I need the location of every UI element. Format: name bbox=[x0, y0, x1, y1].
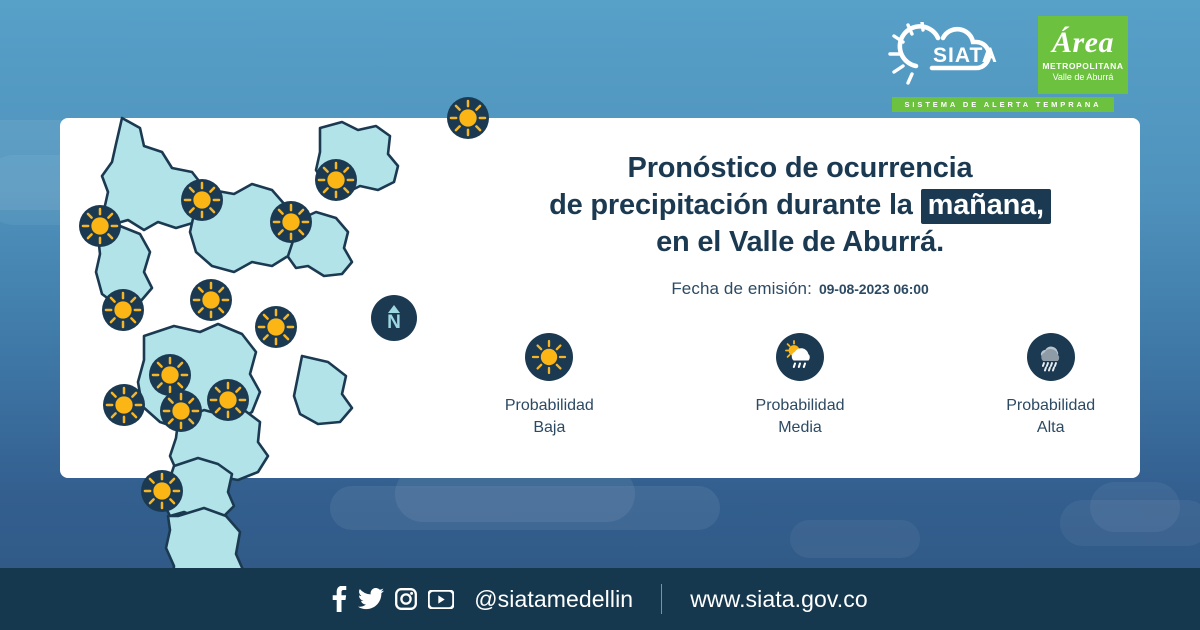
sun-icon bbox=[160, 390, 202, 432]
sun-icon bbox=[79, 205, 121, 247]
title-line-1: Pronóstico de ocurrencia bbox=[480, 150, 1120, 187]
sun-icon bbox=[315, 159, 357, 201]
compass-label: N bbox=[387, 314, 401, 331]
siata-logo: SIATA bbox=[886, 22, 1026, 86]
background-cloud bbox=[790, 520, 920, 558]
map-marker[interactable] bbox=[270, 201, 312, 243]
map-marker[interactable] bbox=[447, 97, 489, 139]
map-marker[interactable] bbox=[207, 379, 249, 421]
title-line-2-text: de precipitación durante la bbox=[549, 189, 913, 221]
sun-icon bbox=[525, 333, 573, 381]
sun-icon bbox=[181, 179, 223, 221]
website-url[interactable]: www.siata.gov.co bbox=[690, 586, 868, 613]
sun-cloud-rain-icon bbox=[776, 333, 824, 381]
map-marker[interactable] bbox=[79, 205, 121, 247]
youtube-icon[interactable] bbox=[428, 590, 454, 609]
map-marker[interactable] bbox=[102, 289, 144, 331]
footer-divider bbox=[661, 584, 662, 614]
tagline-banner: SISTEMA DE ALERTA TEMPRANA bbox=[892, 97, 1114, 112]
map-marker[interactable] bbox=[141, 470, 183, 512]
sun-icon bbox=[255, 306, 297, 348]
map-marker[interactable] bbox=[103, 384, 145, 426]
period-highlight: mañana, bbox=[921, 189, 1051, 223]
social-links bbox=[332, 586, 454, 612]
legend-item-media: Probabilidad Media bbox=[731, 333, 870, 438]
title-line-3: en el Valle de Aburrá. bbox=[480, 224, 1120, 261]
brand-header: SIATA Área METROPOLITANA Valle de Aburrá… bbox=[878, 14, 1128, 114]
map-marker[interactable] bbox=[315, 159, 357, 201]
sun-icon bbox=[447, 97, 489, 139]
cloud-heavy-rain-icon bbox=[1027, 333, 1075, 381]
page-title: Pronóstico de ocurrencia de precipitació… bbox=[480, 150, 1120, 261]
map-marker[interactable] bbox=[190, 279, 232, 321]
area-logo-line1: METROPOLITANA bbox=[1042, 61, 1123, 71]
emission-date-label: Fecha de emisión: bbox=[671, 279, 812, 299]
sun-icon bbox=[103, 384, 145, 426]
forecast-panel: Pronóstico de ocurrencia de precipitació… bbox=[480, 150, 1120, 439]
instagram-icon[interactable] bbox=[395, 588, 417, 610]
legend-label: Probabilidad Baja bbox=[505, 395, 594, 438]
sun-icon bbox=[102, 289, 144, 331]
facebook-icon[interactable] bbox=[332, 586, 347, 612]
probability-legend: Probabilidad Baja Pr bbox=[480, 333, 1120, 438]
social-handle[interactable]: @siatamedellin bbox=[474, 586, 633, 613]
title-line-2: de precipitación durante la mañana, bbox=[480, 187, 1120, 224]
compass-north-icon: N bbox=[371, 295, 417, 341]
legend-label: Probabilidad Media bbox=[756, 395, 845, 438]
legend-item-alta: Probabilidad Alta bbox=[981, 333, 1120, 438]
footer-bar: @siatamedellin www.siata.gov.co bbox=[0, 568, 1200, 630]
map-marker[interactable] bbox=[255, 306, 297, 348]
map-marker[interactable] bbox=[160, 390, 202, 432]
sun-icon bbox=[207, 379, 249, 421]
area-metropolitana-logo: Área METROPOLITANA Valle de Aburrá bbox=[1038, 16, 1128, 94]
area-logo-line2: Valle de Aburrá bbox=[1053, 72, 1114, 82]
legend-item-baja: Probabilidad Baja bbox=[480, 333, 619, 438]
background-cloud bbox=[1090, 482, 1180, 532]
emission-date-value: 09-08-2023 06:00 bbox=[819, 281, 929, 297]
sun-icon bbox=[141, 470, 183, 512]
map-marker[interactable] bbox=[181, 179, 223, 221]
sun-icon bbox=[270, 201, 312, 243]
valle-de-aburra-map: N bbox=[60, 40, 400, 580]
area-logo-script: Área bbox=[1052, 28, 1114, 58]
twitter-icon[interactable] bbox=[358, 588, 384, 610]
sun-icon bbox=[190, 279, 232, 321]
legend-label: Probabilidad Alta bbox=[1006, 395, 1095, 438]
svg-text:SIATA: SIATA bbox=[933, 44, 998, 67]
emission-date: Fecha de emisión: 09-08-2023 06:00 bbox=[480, 279, 1120, 299]
